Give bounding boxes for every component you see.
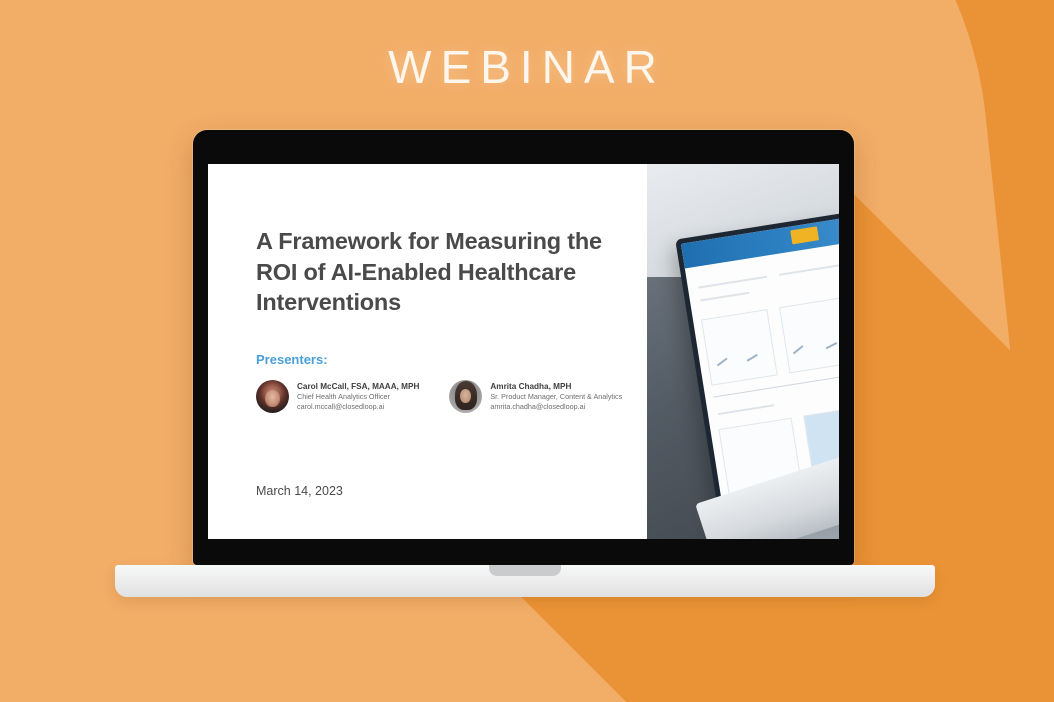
laptop-base-stand bbox=[115, 565, 935, 597]
photo-text-line bbox=[778, 264, 839, 276]
presenter-info: Amrita Chadha, MPH Sr. Product Manager, … bbox=[490, 381, 622, 412]
presenter-info: Carol McCall, FSA, MAAA, MPH Chief Healt… bbox=[297, 381, 419, 412]
page-title: WEBINAR bbox=[0, 40, 1054, 94]
webinar-promo-graphic: WEBINAR A Framework for Measuring the RO… bbox=[0, 0, 1054, 702]
avatar-carol-mccall bbox=[256, 380, 289, 413]
slide-title: A Framework for Measuring the ROI of AI-… bbox=[256, 226, 647, 318]
photo-chart-panel bbox=[778, 296, 839, 373]
presenter-list: Carol McCall, FSA, MAAA, MPH Chief Healt… bbox=[256, 380, 647, 413]
presentation-slide: A Framework for Measuring the ROI of AI-… bbox=[208, 164, 647, 539]
laptop-lid-bezel: A Framework for Measuring the ROI of AI-… bbox=[193, 130, 854, 565]
photo-text-line bbox=[697, 275, 767, 288]
presenter-role: Sr. Product Manager, Content & Analytics bbox=[490, 392, 622, 402]
presenter-role: Chief Health Analytics Officer bbox=[297, 392, 419, 402]
photo-text-line bbox=[700, 292, 750, 302]
slide-photo bbox=[647, 164, 839, 539]
photo-chart-panel bbox=[701, 309, 777, 385]
presenter-name: Amrita Chadha, MPH bbox=[490, 381, 622, 392]
presenter-amrita-chadha: Amrita Chadha, MPH Sr. Product Manager, … bbox=[449, 380, 622, 413]
presenter-name: Carol McCall, FSA, MAAA, MPH bbox=[297, 381, 419, 392]
presenter-email: amrita.chadha@closedloop.ai bbox=[490, 402, 622, 412]
photo-dashboard-topbar bbox=[680, 218, 838, 269]
photo-text-line bbox=[717, 404, 773, 415]
laptop-screen: A Framework for Measuring the ROI of AI-… bbox=[208, 164, 839, 539]
laptop-mockup: A Framework for Measuring the ROI of AI-… bbox=[193, 130, 854, 565]
presenter-carol-mccall: Carol McCall, FSA, MAAA, MPH Chief Healt… bbox=[256, 380, 419, 413]
presenters-label: Presenters: bbox=[256, 352, 647, 367]
avatar-amrita-chadha bbox=[449, 380, 482, 413]
slide-date: March 14, 2023 bbox=[256, 484, 343, 498]
laptop-base-notch bbox=[489, 565, 561, 576]
presenter-email: carol.mccall@closedloop.ai bbox=[297, 402, 419, 412]
